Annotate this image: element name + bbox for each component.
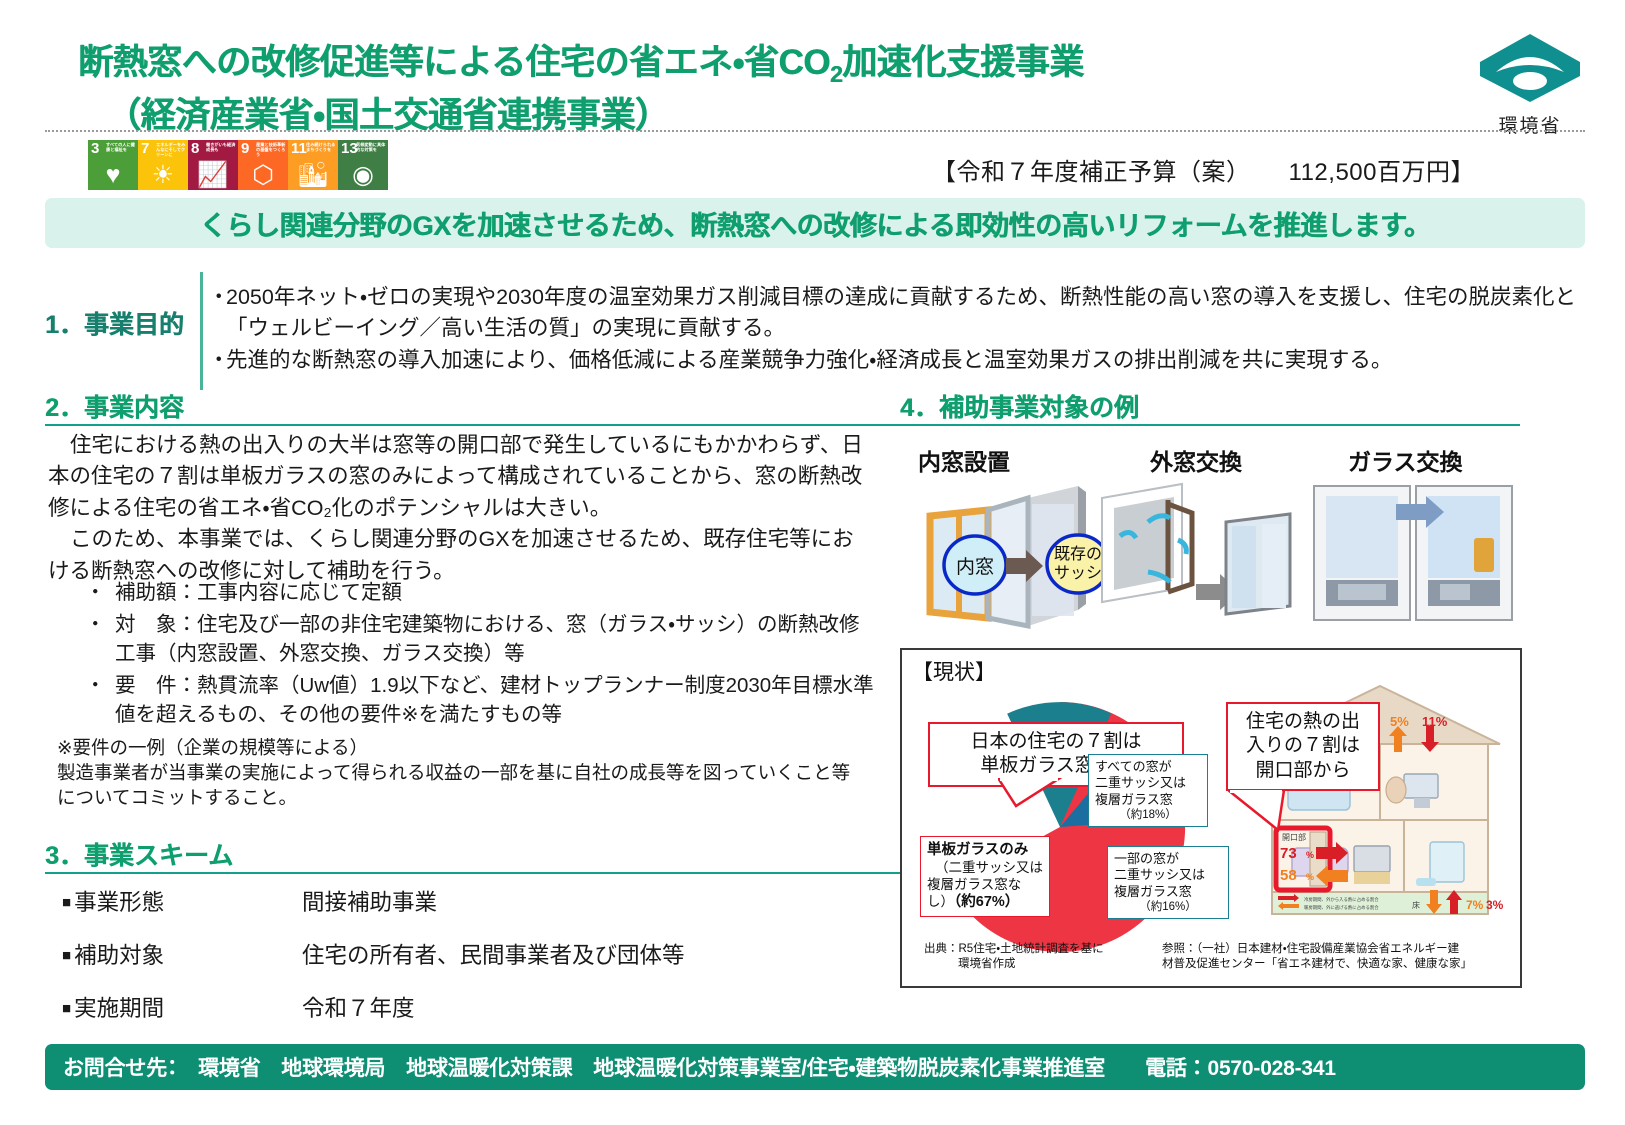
doc-title-text: 断熱窓への改修促進等による住宅の省エネ・省CO2加速化支援事業 （経済産業省・国… — [78, 38, 1378, 140]
footer-contact: お問合せ先： 環境省 地球環境局 地球温暖化対策課 地球温暖化対策事業室/住宅・… — [45, 1052, 1105, 1082]
callout-single-glazing-only: 単板ガラスのみ （二重サッシ又は 複層ガラス窓な し）（約67%） — [920, 836, 1050, 917]
house-value-floor-in: 7% — [1466, 898, 1484, 912]
table-row: 実施期間 令和７年度 — [62, 991, 862, 1023]
sdg-caption: すべての人に健康と福祉を — [106, 143, 136, 153]
list-item: 対 象：住宅及び一部の非住宅建築物における、窓（ガラス・サッシ）の断熱改修工事（… — [85, 610, 875, 668]
callout-line: 複層ガラス窓な — [927, 876, 1043, 893]
section4-heading: 4．補助事業対象の例 — [900, 388, 1139, 424]
callout-title: 単板ガラスのみ — [927, 842, 1028, 858]
example-title-outer-window: 外窓交換 — [1150, 443, 1242, 477]
table-row: 事業形態 間接補助事業 — [62, 885, 862, 917]
house-value-roof-out: 11% — [1422, 714, 1448, 729]
budget-line: 【令和７年度補正予算（案）112,500百万円】 — [932, 152, 1475, 187]
callout-partial-double-glazed: 一部の窓が 二重サッシ又は 複層ガラス窓 （約16%） — [1107, 846, 1229, 919]
section3-heading: 3．事業スキーム — [45, 836, 233, 872]
budget-label: 【令和７年度補正予算（案） — [932, 159, 1251, 186]
ministry-logo: 環境省 — [1469, 32, 1591, 138]
callout-line: （二重サッシ又は — [927, 859, 1043, 876]
callout-house-summary: 住宅の熱の出 入りの７割は 開口部から — [1226, 702, 1380, 791]
section1-label: 1．事業目的 — [45, 305, 184, 341]
footnote-line-1: ※要件の一例（企業の規模等による） — [57, 735, 857, 760]
sdg-number: 3 — [91, 141, 99, 156]
house-value-opening-out: 73 — [1280, 845, 1297, 862]
sdg-13-climate-icon: 13気候変動に具体的な対策を◉ — [338, 140, 388, 190]
section2-paragraphs: 住宅における熱の出入りの大半は窓等の開口部で発生しているにもかかわらず、日本の住… — [48, 430, 866, 587]
outer-window-replacement-diagram-icon — [1090, 480, 1300, 640]
callout-percent: （約16%） — [1114, 900, 1222, 914]
example-titles: 内窓設置 外窓交換 ガラス交換 — [900, 443, 1525, 477]
title-subscript-co2: 2 — [830, 61, 842, 87]
scheme-key: 実施期間 — [62, 991, 302, 1023]
page-title: 断熱窓への改修促進等による住宅の省エネ・省CO2加速化支援事業 （経済産業省・国… — [78, 38, 1378, 140]
footnote-line-2: 製造事業者が当事業の実施によって得られる収益の一部を基に自社の成長等を図っていく… — [57, 760, 857, 810]
svg-text:%: % — [1306, 850, 1314, 860]
list-item: 先進的な断熱窓の導入加速により、価格低減による産業競争力強化・経済成長と温室効果… — [212, 345, 1587, 376]
section2-footnote: ※要件の一例（企業の規模等による） 製造事業者が当事業の実施によって得られる収益… — [57, 735, 857, 810]
source-house-line-1: 参照：（一社）日本建材・住宅設備産業協会省エネルギー建 — [1162, 942, 1518, 957]
highlight-banner: くらし関連分野のGXを加速させるため、断熱窓への改修による即効性の高いリフォーム… — [45, 198, 1585, 248]
title-line2: （経済産業省・国土交通省連携事業） — [78, 91, 1378, 141]
sdg-caption: 気候変動に具体的な対策を — [356, 143, 386, 153]
section2-paragraph-1: 住宅における熱の出入りの大半は窓等の開口部で発生しているにもかかわらず、日本の住… — [48, 430, 866, 524]
source-pie-line-1: 出典：R5住宅・土地統計調査を基に — [924, 942, 1154, 957]
callout-line: 複層ガラス窓 — [1095, 792, 1201, 808]
sdg-number: 9 — [241, 141, 249, 156]
callout-line: すべての窓が — [1095, 759, 1201, 775]
source-pie-line-2: 環境省作成 — [924, 957, 1154, 972]
section3-scheme-table: 事業形態 間接補助事業 補助対象 住宅の所有者、民間事業者及び団体等 実施期間 … — [62, 885, 862, 1044]
callout-line: 二重サッシ又は — [1095, 775, 1201, 791]
source-house: 参照：（一社）日本建材・住宅設備産業協会省エネルギー建 材普及促進センター「省エ… — [1162, 942, 1518, 972]
contact-footer: お問合せ先： 環境省 地球環境局 地球温暖化対策課 地球温暖化対策事業室/住宅・… — [45, 1044, 1585, 1090]
sdg-3-good-health-icon: 3すべての人に健康と福祉を♥ — [88, 140, 138, 190]
callout-pie-text-1: 日本の住宅の７割は — [938, 730, 1174, 754]
callout-line-with-pct: し）（約67%） — [927, 893, 1043, 911]
sdg-number: 7 — [141, 141, 149, 156]
house-legend-line-1: 冷房期間、外から入る熱に占める割合 — [1304, 896, 1379, 903]
footer-telephone: 電話：0570-028-341 — [1105, 1052, 1336, 1082]
list-item: 補助額：工事内容に応じて定額 — [85, 578, 875, 607]
callout-line: 二重サッシ又は — [1114, 867, 1222, 883]
ministry-logo-label: 環境省 — [1469, 111, 1591, 138]
callout-house-tail-icon — [1228, 790, 1300, 832]
title-line1-part-a: 断熱窓への改修促進等による住宅の省エネ・省CO — [78, 43, 830, 82]
panel-title: 【現状】 — [912, 656, 996, 686]
sdg-7-clean-energy-icon: 7エネルギーをみんなにそしてクリーンに☀ — [138, 140, 188, 190]
sdg-number: 8 — [191, 141, 199, 156]
section1-vertical-rule — [200, 272, 203, 390]
svg-text:%: % — [1306, 872, 1314, 882]
list-item: 2050年ネット・ゼロの実現や2030年度の温室効果ガス削減目標の達成に貢献する… — [212, 282, 1587, 343]
scheme-value: 間接補助事業 — [302, 885, 437, 917]
callout-line: し） — [927, 894, 954, 909]
sdg-glyph: ◉ — [338, 163, 388, 188]
title-line1-part-b: 加速化支援事業 — [842, 43, 1084, 82]
sdg-glyph: ♥ — [88, 163, 138, 188]
callout-all-double-glazed: すべての窓が 二重サッシ又は 複層ガラス窓 （約18%） — [1088, 754, 1208, 827]
section1-bullet-list: 2050年ネット・ゼロの実現や2030年度の温室効果ガス削減目標の達成に貢献する… — [212, 282, 1587, 378]
sdg-9-industry-icon: 9産業と技術革新の基盤をつくろう⬡ — [238, 140, 288, 190]
budget-amount: 112,500百万円】 — [1289, 159, 1475, 186]
sdg-caption: エネルギーをみんなにそしてクリーンに — [156, 143, 186, 157]
callout-house-line-3: 開口部から — [1236, 759, 1370, 783]
callout-house-line-2: 入りの７割は — [1236, 734, 1370, 758]
section2-bullet-list: 補助額：工事内容に応じて定額 対 象：住宅及び一部の非住宅建築物における、窓（ガ… — [85, 578, 875, 733]
sdg-glyph: 📈 — [188, 163, 238, 188]
section2-heading: 2．事業内容 — [45, 388, 184, 424]
house-label-floor: 床 — [1412, 901, 1420, 910]
sdg-glyph: 🏙 — [288, 163, 338, 188]
example-diagrams: 内窓 既存の サッシ — [900, 478, 1530, 638]
example-title-inner-window: 内窓設置 — [918, 443, 1010, 477]
list-item: 要 件：熱貫流率（Uw値）1.9以下など、建材トップランナー制度2030年目標水… — [85, 671, 875, 729]
inner-window-bubble-label: 内窓 — [956, 556, 994, 578]
scheme-key: 事業形態 — [62, 885, 302, 917]
example-title-glass: ガラス交換 — [1348, 443, 1463, 477]
sdg-caption: 産業と技術革新の基盤をつくろう — [256, 143, 286, 157]
house-label-opening: 開口部 — [1282, 833, 1306, 842]
callout-pie-tail-icon — [998, 778, 1068, 808]
current-status-panel: 【現状】 単板ガラスのみ 日本の住宅の７割は 単板ガラス窓のみ すべての窓が 二… — [900, 648, 1522, 988]
house-value-floor-out: 3% — [1486, 898, 1504, 912]
source-house-line-2: 材普及促進センター「省エネ建材で、快適な家、健康な家」 — [1162, 957, 1518, 972]
sdg-caption: 住み続けられるまちづくりを — [306, 143, 336, 153]
header-divider — [45, 130, 1585, 132]
house-legend-line-2: 暖房期間、外に逃げる熱に占める割合 — [1304, 904, 1379, 911]
source-pie: 出典：R5住宅・土地統計調査を基に 環境省作成 — [924, 942, 1154, 972]
env-ministry-emblem-icon — [1478, 32, 1582, 104]
house-value-opening-in: 58 — [1280, 867, 1297, 884]
table-row: 補助対象 住宅の所有者、民間事業者及び団体等 — [62, 938, 862, 970]
sdg-caption: 働きがいも経済成長も — [206, 143, 236, 153]
callout-line: 複層ガラス窓 — [1114, 884, 1222, 900]
sdg-11-cities-icon: 11住み続けられるまちづくりを🏙 — [288, 140, 338, 190]
house-value-roof-in: 5% — [1390, 714, 1409, 729]
glass-replacement-diagram-icon — [1308, 480, 1518, 640]
callout-line: 一部の窓が — [1114, 851, 1222, 867]
banner-text: くらし関連分野のGXを加速させるため、断熱窓への改修による即効性の高いリフォーム… — [200, 204, 1431, 243]
section4-rule — [900, 424, 1520, 426]
sdg-glyph: ⬡ — [238, 163, 288, 188]
callout-percent: （約67%） — [954, 894, 1019, 910]
sdg-glyph: ☀ — [138, 163, 188, 188]
slide-page: 断熱窓への改修促進等による住宅の省エネ・省CO2加速化支援事業 （経済産業省・国… — [0, 0, 1625, 1125]
sdg-8-decent-work-icon: 8働きがいも経済成長も📈 — [188, 140, 238, 190]
sdg-icon-row: 3すべての人に健康と福祉を♥7エネルギーをみんなにそしてクリーンに☀8働きがいも… — [88, 140, 388, 190]
scheme-value: 令和７年度 — [302, 991, 415, 1023]
scheme-value: 住宅の所有者、民間事業者及び団体等 — [302, 938, 685, 970]
callout-house-line-1: 住宅の熱の出 — [1236, 710, 1370, 734]
sdg-number: 11 — [291, 141, 307, 156]
scheme-key: 補助対象 — [62, 938, 302, 970]
callout-percent: （約18%） — [1095, 808, 1201, 822]
